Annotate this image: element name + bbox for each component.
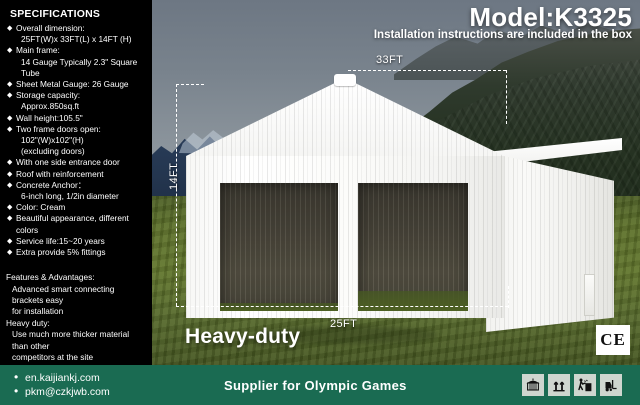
features-line-1: Advanced smart connecting brackets easy	[6, 284, 146, 307]
length-guide-right-drop	[506, 70, 507, 124]
diamond-bullet-icon: ◆	[7, 169, 12, 180]
interior-floor	[358, 291, 468, 311]
shipping-container-icon	[522, 374, 544, 396]
spec-label: Color: Cream	[16, 202, 65, 212]
spec-label: Wall height:105.5"	[16, 113, 83, 123]
product-poster: 33FT 14FT 25FT Model:K3325 Installation …	[0, 0, 640, 405]
spec-label: Sheet Metal Gauge: 26 Gauge	[16, 79, 129, 89]
diamond-bullet-icon: ◆	[7, 79, 12, 90]
spec-item: ◆ Sheet Metal Gauge: 26 Gauge	[6, 79, 146, 90]
diamond-bullet-icon: ◆	[7, 202, 12, 213]
spec-label: Storage capacity:	[16, 90, 80, 100]
spec-label: Overall dimension:	[16, 23, 85, 33]
diamond-bullet-icon: ◆	[7, 90, 12, 101]
shipping-icon-group	[522, 374, 640, 396]
specifications-heading: SPECIFICATIONS	[10, 8, 146, 20]
heavy-duty-headline: Heavy-duty	[185, 325, 300, 349]
spec-detail: 102"(W)x102"(H)	[16, 135, 146, 146]
features-advantages-block: Features & Advantages: Advanced smart co…	[6, 272, 146, 363]
width-guide-right-riser	[508, 286, 509, 308]
ce-mark-badge: CE	[596, 325, 630, 355]
spec-item: ◆ Color: Cream	[6, 202, 146, 213]
diamond-bullet-icon: ◆	[7, 213, 12, 224]
spec-item: ◆ Extra provide 5% fittings	[6, 247, 146, 258]
spec-item: ◆ Overall dimension: 25FT(W)x 33FT(L) x …	[6, 23, 146, 45]
height-guide-top	[176, 84, 204, 85]
spec-item: ◆ Service life:15~20 years	[6, 236, 146, 247]
side-entrance-door	[584, 274, 595, 316]
diamond-bullet-icon: ◆	[7, 124, 12, 135]
spec-detail: 25FT(W)x 33FT(L) x 14FT (H)	[16, 34, 146, 45]
steel-building	[186, 78, 576, 328]
spec-item: ◆ With one side entrance door	[6, 157, 146, 168]
heavy-duty-line-2: competitors at the site	[6, 352, 146, 363]
diamond-bullet-icon: ◆	[7, 157, 12, 168]
spec-label: Beautiful appearance, different colors	[16, 213, 129, 234]
diamond-bullet-icon: ◆	[7, 247, 12, 258]
spec-detail: Approx.850sq.ft	[16, 101, 146, 112]
spec-item: ◆ Concrete Anchor： 6-inch long, 1/2in di…	[6, 180, 146, 202]
width-guide-line	[176, 306, 508, 307]
spec-detail: 6-inch long, 1/2in diameter	[16, 191, 146, 202]
features-heading: Features & Advantages:	[6, 272, 146, 283]
forklift-icon	[600, 374, 622, 396]
spec-item: ◆ Beautiful appearance, different colors	[6, 213, 146, 235]
height-guide-line	[176, 84, 177, 306]
interior-floor	[220, 303, 338, 311]
height-dimension-label: 14FT	[168, 163, 180, 190]
specifications-panel: SPECIFICATIONS ◆ Overall dimension: 25FT…	[0, 0, 152, 365]
spec-detail-extra: (excluding doors)	[16, 146, 146, 157]
length-dimension-label: 33FT	[376, 54, 403, 66]
this-way-up-icon	[548, 374, 570, 396]
length-guide-line	[348, 70, 506, 71]
roof-ridge-cap	[334, 74, 356, 86]
installation-note: Installation instructions are included i…	[374, 29, 632, 41]
width-dimension-label: 25FT	[330, 318, 357, 330]
spec-label: Service life:15~20 years	[16, 236, 105, 246]
heavy-duty-heading: Heavy duty:	[6, 318, 146, 329]
spec-item: ◆ Roof with reinforcement	[6, 169, 146, 180]
features-line-2: for installation	[6, 306, 146, 317]
footer-slogan: Supplier for Olympic Games	[210, 378, 522, 393]
specifications-list: ◆ Overall dimension: 25FT(W)x 33FT(L) x …	[6, 23, 146, 258]
footer-email[interactable]: pkm@czkjwb.com	[14, 385, 210, 399]
footer-contact-list: en.kaijiankj.com pkm@czkjwb.com	[0, 371, 210, 399]
spec-item: ◆ Two frame doors open: 102"(W)x102"(H) …	[6, 124, 146, 158]
spec-item: ◆ Wall height:105.5"	[6, 113, 146, 124]
diamond-bullet-icon: ◆	[7, 45, 12, 56]
garage-door-opening-right	[358, 183, 468, 311]
spec-label: Two frame doors open:	[16, 124, 101, 134]
diamond-bullet-icon: ◆	[7, 180, 12, 191]
spec-label: Extra provide 5% fittings	[16, 247, 105, 257]
spec-item: ◆ Storage capacity: Approx.850sq.ft	[6, 90, 146, 112]
spec-label: Concrete Anchor：	[16, 180, 86, 190]
diamond-bullet-icon: ◆	[7, 236, 12, 247]
garage-door-opening-left	[220, 183, 338, 311]
interior-wall-ribbing	[220, 183, 338, 311]
spec-label: With one side entrance door	[16, 157, 120, 167]
spec-label: Roof with reinforcement	[16, 169, 104, 179]
heavy-duty-line-1: Use much more thicker material than othe…	[6, 329, 146, 352]
footer-website[interactable]: en.kaijiankj.com	[14, 371, 210, 385]
diamond-bullet-icon: ◆	[7, 113, 12, 124]
spec-detail: 14 Gauge Typically 2.3" Square Tube	[16, 57, 146, 79]
product-photo-scene: 33FT 14FT 25FT	[148, 0, 640, 365]
spec-label: Main frame:	[16, 45, 60, 55]
footer-bar: en.kaijiankj.com pkm@czkjwb.com Supplier…	[0, 365, 640, 405]
no-littering-icon	[574, 374, 596, 396]
diamond-bullet-icon: ◆	[7, 23, 12, 34]
spec-item: ◆ Main frame: 14 Gauge Typically 2.3" Sq…	[6, 45, 146, 79]
